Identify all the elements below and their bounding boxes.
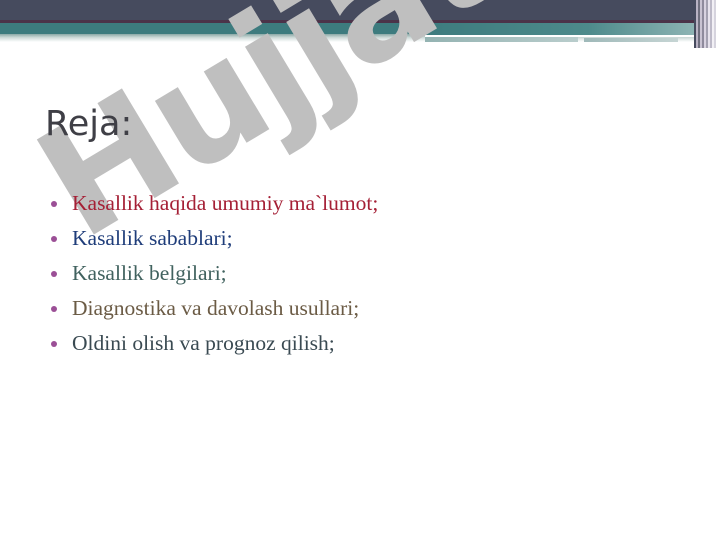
header-decoration bbox=[0, 0, 720, 52]
slide-canvas: Hujjat 24 Reja: Kasallik haqida umumiy m… bbox=[0, 0, 720, 540]
bullet-dot-icon bbox=[51, 306, 57, 312]
bullet-list: Kasallik haqida umumiy ma`lumot; Kasalli… bbox=[45, 186, 665, 361]
header-accent-bar-primary bbox=[425, 23, 697, 35]
list-item-label: Diagnostika va davolash usullari; bbox=[72, 296, 359, 320]
list-item: Diagnostika va davolash usullari; bbox=[45, 291, 665, 326]
list-item: Oldini olish va prognoz qilish; bbox=[45, 326, 665, 361]
list-item-label: Kasallik belgilari; bbox=[72, 261, 227, 285]
bullet-dot-icon bbox=[51, 271, 57, 277]
list-item-label: Kasallik sabablari; bbox=[72, 226, 233, 250]
list-item: Kasallik haqida umumiy ma`lumot; bbox=[45, 186, 665, 221]
list-item: Kasallik sabablari; bbox=[45, 221, 665, 256]
header-band-slate bbox=[0, 0, 720, 20]
header-vertical-stripes bbox=[694, 0, 720, 48]
list-item: Kasallik belgilari; bbox=[45, 256, 665, 291]
list-item-label: Kasallik haqida umumiy ma`lumot; bbox=[72, 191, 378, 215]
header-accent-bar-tertiary bbox=[584, 38, 678, 42]
bullet-dot-icon bbox=[51, 341, 57, 347]
list-item-label: Oldini olish va prognoz qilish; bbox=[72, 331, 335, 355]
bullet-dot-icon bbox=[51, 236, 57, 242]
header-accent-bar-secondary bbox=[425, 37, 578, 42]
page-title: Reja: bbox=[45, 104, 132, 144]
bullet-dot-icon bbox=[51, 201, 57, 207]
